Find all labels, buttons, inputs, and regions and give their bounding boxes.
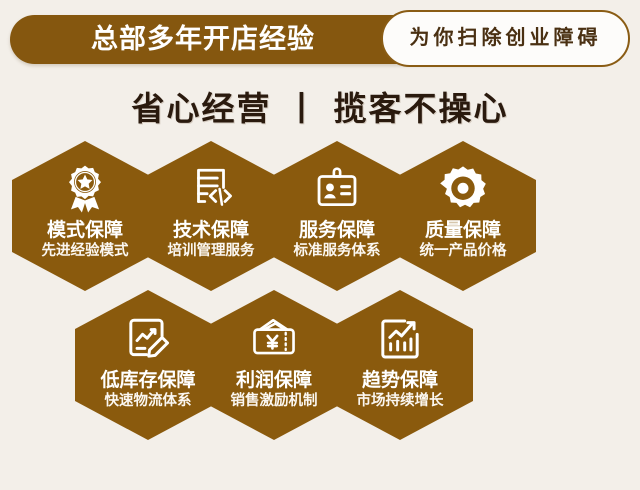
feature-title: 模式保障	[47, 220, 123, 242]
growth-chart-icon	[375, 314, 425, 364]
feature-hex-trend-guarantee[interactable]: 趋势保障 市场持续增长	[327, 290, 473, 440]
document-code-icon	[186, 164, 236, 214]
id-card-icon	[312, 164, 362, 214]
feature-subtitle: 先进经验模式	[42, 243, 129, 260]
feature-hex-profit-guarantee[interactable]: 利润保障 销售激励机制	[201, 290, 347, 440]
feature-hex-tech-guarantee[interactable]: 技术保障 培训管理服务	[138, 141, 284, 291]
feature-title: 低库存保障	[100, 370, 195, 392]
feature-title: 利润保障	[236, 370, 312, 392]
money-cash-icon	[249, 314, 299, 364]
chart-edit-icon	[123, 314, 173, 364]
feature-hex-low-stock-guarantee[interactable]: 低库存保障 快速物流体系	[75, 290, 221, 440]
feature-subtitle: 市场持续增长	[357, 393, 444, 410]
feature-subtitle: 标准服务体系	[294, 243, 381, 260]
feature-title: 技术保障	[173, 220, 249, 242]
gear-icon	[438, 164, 488, 214]
award-badge-icon	[60, 164, 110, 214]
feature-subtitle: 统一产品价格	[420, 243, 507, 260]
feature-title: 趋势保障	[362, 370, 438, 392]
feature-hex-grid: 模式保障 先进经验模式 技术保障 培训管理服务	[0, 0, 640, 490]
feature-subtitle: 培训管理服务	[168, 243, 255, 260]
feature-title: 服务保障	[299, 220, 375, 242]
feature-hex-quality-guarantee[interactable]: 质量保障 统一产品价格	[390, 141, 536, 291]
feature-subtitle: 快速物流体系	[105, 393, 192, 410]
feature-hex-service-guarantee[interactable]: 服务保障 标准服务体系	[264, 141, 410, 291]
feature-subtitle: 销售激励机制	[231, 393, 318, 410]
feature-title: 质量保障	[425, 220, 501, 242]
feature-hex-mode-guarantee[interactable]: 模式保障 先进经验模式	[12, 141, 158, 291]
